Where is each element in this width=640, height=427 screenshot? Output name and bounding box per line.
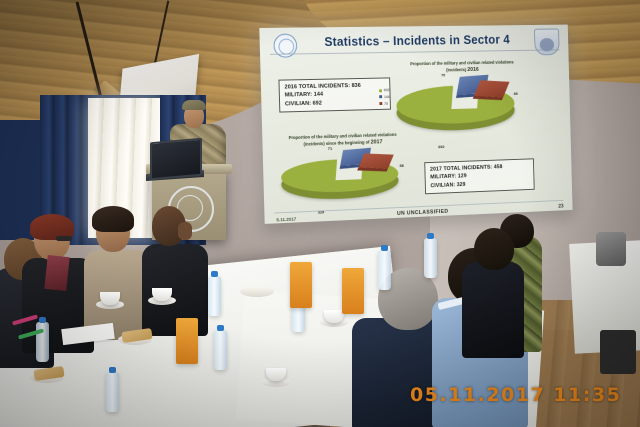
photograph: Statistics – Incidents in Sector 4 2016 …	[0, 0, 640, 427]
waste-bin	[600, 330, 636, 374]
stats-2016-civilian: CIVILIAN: 692	[285, 98, 385, 109]
juice-glass	[342, 268, 364, 314]
pie-2016-value-top: 70	[441, 72, 445, 77]
legend-2016-civilian: 692	[384, 88, 390, 92]
caption-2016-line2: (incidents)	[446, 67, 466, 72]
legend-2016-other: 70	[384, 102, 388, 106]
pie-chart-2017: 71 58 329	[280, 148, 399, 214]
legend-2016-military: 144	[384, 95, 390, 99]
chart-caption-2016: Proportion of the military and civilian …	[388, 59, 535, 76]
stats-box-2017: 2017 TOTAL INCIDENTS: 458 MILITARY: 129 …	[424, 158, 534, 194]
pie-2017-slice-other	[359, 153, 394, 168]
slide-title-divider	[270, 49, 560, 55]
camera-timestamp: 05.11.2017 11:35	[410, 384, 621, 406]
coffee-urn	[596, 232, 626, 266]
water-bottle	[208, 276, 221, 316]
water-bottle	[378, 250, 391, 290]
pie-2016-value-right: 80	[514, 91, 518, 96]
juice-glass	[176, 318, 198, 364]
water-bottle	[214, 330, 227, 370]
pie-2017-value-right: 58	[400, 163, 404, 168]
pie-2016-legend: 692 144 70	[379, 87, 390, 107]
water-bottle	[424, 238, 437, 278]
slide-number: 23	[558, 204, 563, 210]
pie-2016-value-bottom: 692	[438, 144, 444, 149]
laptop-screen	[150, 138, 202, 181]
plate	[240, 286, 274, 297]
water-bottle	[106, 372, 119, 412]
presenter-cap	[182, 100, 206, 110]
caption-2017-line2: (incidents) since the beginning of	[304, 140, 370, 147]
juice-glass	[290, 262, 312, 308]
pie-2017-value-top: 71	[328, 146, 332, 151]
caption-2016-year: 2016	[467, 67, 479, 73]
projection-screen: Statistics – Incidents in Sector 4 2016 …	[259, 25, 572, 224]
stats-box-2016: 2016 TOTAL INCIDENTS: 836 MILITARY: 144 …	[278, 77, 390, 112]
slide-title: Statistics – Incidents in Sector 4	[316, 33, 517, 49]
caption-2017-year: 2017	[371, 139, 383, 145]
mission-crest-icon	[534, 28, 560, 55]
